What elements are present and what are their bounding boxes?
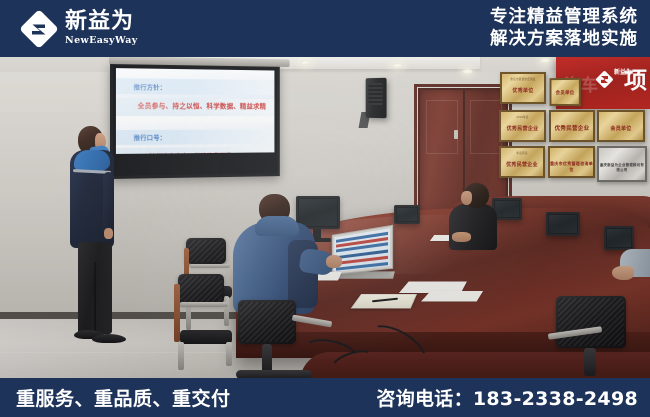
laptop-screen xyxy=(334,228,390,271)
brand-name-cn: 新益为 xyxy=(65,11,138,33)
projection-screen: 推行方针： 全员参与、持之以恒、科学数据、精益求精 推行口号： 精细决定未来、行… xyxy=(110,62,280,179)
plaque-subtitle: 年度评选 xyxy=(501,151,543,155)
plaque-title: 重庆新益为企业管理顾问有限公司 xyxy=(599,162,645,172)
award-plaque: 2019年度 优秀民营企业 xyxy=(499,110,546,142)
monitor-screen xyxy=(299,199,337,226)
chair-frame xyxy=(180,302,228,307)
presenter-arm xyxy=(103,172,114,234)
promotional-photo-banner: 推行方针： 全员参与、持之以恒、科学数据、精益求精 推行口号： 精细决定未来、行… xyxy=(0,0,650,417)
table-flip-monitor-3 xyxy=(546,212,580,236)
door-panel-right xyxy=(470,100,502,154)
chair-mesh xyxy=(180,276,222,302)
slide-heading-1: 推行方针： xyxy=(134,81,166,91)
downlight-2 xyxy=(300,60,311,65)
plaque-subtitle: 2019年度 xyxy=(501,115,544,119)
plaque-subtitle: 重庆市质量协会颁发 xyxy=(502,77,544,81)
monitor-screen xyxy=(549,215,577,233)
plaque-title: 会员单位 xyxy=(599,125,643,132)
award-plaque: 会员单位 xyxy=(550,78,581,106)
slide-body-2: 精细决定未来、行动改变现状 xyxy=(149,150,231,154)
logo-swoosh-icon xyxy=(22,12,56,46)
open-notebook xyxy=(351,294,418,309)
banner-logo-icon xyxy=(595,70,613,88)
baseboard xyxy=(0,312,240,319)
footer-bar: 重服务、重品质、重交付 咨询电话：183-2338-2498 xyxy=(0,378,650,417)
chair-backrest xyxy=(556,296,626,348)
door-lock xyxy=(454,130,458,139)
plaque-title: 优秀民营企业 xyxy=(501,161,543,168)
plaque-title: 优秀民营企业 xyxy=(501,125,544,132)
monitor-screen xyxy=(397,208,417,221)
monitor-screen xyxy=(607,229,631,247)
plaque-title: 重庆市优秀管理咨询单位 xyxy=(550,161,593,173)
chair-leg xyxy=(178,342,184,370)
edge-attendee-hand xyxy=(612,266,634,280)
banner-headline: 项 xyxy=(624,69,647,92)
brand-wordmark: 新益为 NewEasyWay xyxy=(65,11,138,46)
attendee-face xyxy=(461,191,472,205)
chair-frame xyxy=(190,264,230,268)
monitor-screen xyxy=(495,201,519,217)
award-plaque: 优秀民营企业 xyxy=(549,110,595,142)
chair-post xyxy=(584,348,596,376)
projected-slide: 推行方针： 全员参与、持之以恒、科学数据、精益求精 推行口号： 精细决定未来、行… xyxy=(116,68,274,154)
table-flip-monitor-4 xyxy=(604,226,634,250)
chair-backrest xyxy=(186,238,226,264)
downlight-4 xyxy=(462,69,473,74)
presenter-leg-gap xyxy=(94,262,96,334)
footer-tagline: 重服务、重品质、重交付 xyxy=(16,384,231,411)
downlight-3 xyxy=(392,63,403,68)
plaque-title: 会员单位 xyxy=(551,90,578,96)
brand-logo: 新益为 NewEasyWay xyxy=(22,11,138,46)
table-flip-monitor-1 xyxy=(394,205,420,224)
chair-backrest xyxy=(178,274,224,304)
header-bar: 新益为 NewEasyWay 专注精益管理系统 解决方案落地实施 xyxy=(0,0,650,57)
neweasyway-diamond-logo-icon xyxy=(22,12,56,46)
ceiling-speaker xyxy=(366,78,387,118)
operator-hood xyxy=(255,216,299,236)
slide-heading-2: 推行口号： xyxy=(134,132,166,142)
downlight-5 xyxy=(540,58,551,63)
attendee-hands xyxy=(452,232,471,242)
header-slogan-line-1: 专注精益管理系统 xyxy=(490,7,638,28)
chair-leg xyxy=(226,342,232,366)
chair-mesh xyxy=(188,240,224,262)
award-plaque: 年度评选 优秀民营企业 xyxy=(499,146,545,178)
presenter-shoe-right xyxy=(92,334,126,343)
chair-backrest xyxy=(238,300,296,344)
chair-leg xyxy=(224,296,229,326)
plaque-title: 优秀单位 xyxy=(502,87,544,94)
award-plaque: 会员单位 xyxy=(597,110,645,142)
brand-name-en: NewEasyWay xyxy=(65,36,138,46)
conference-room-photo: 推行方针： 全员参与、持之以恒、科学数据、精益求精 推行口号： 精细决定未来、行… xyxy=(0,0,650,417)
operator-hand xyxy=(326,255,342,268)
award-plaque: 重庆市质量协会颁发 优秀单位 xyxy=(500,72,546,104)
award-plaque: 重庆市优秀管理咨询单位 xyxy=(548,146,595,178)
presenter-hand xyxy=(104,228,113,239)
chair-seat xyxy=(180,330,232,344)
document-sheet xyxy=(421,291,483,302)
chair-mesh xyxy=(558,298,624,346)
header-slogan: 专注精益管理系统 解决方案落地实施 xyxy=(490,7,638,50)
chair-mesh xyxy=(240,302,294,342)
footer-contact[interactable]: 咨询电话：183-2338-2498 xyxy=(376,384,638,411)
award-plaque-silver: 重庆新益为企业管理顾问有限公司 xyxy=(597,146,647,182)
plaque-title: 优秀民营企业 xyxy=(551,124,593,132)
door-panel-left xyxy=(426,100,458,154)
laptop xyxy=(332,225,393,275)
slide-body-1: 全员参与、持之以恒、科学数据、精益求精 xyxy=(138,101,267,111)
header-slogan-line-2: 解决方案落地实施 xyxy=(490,29,638,50)
attendee-torso xyxy=(449,204,497,250)
